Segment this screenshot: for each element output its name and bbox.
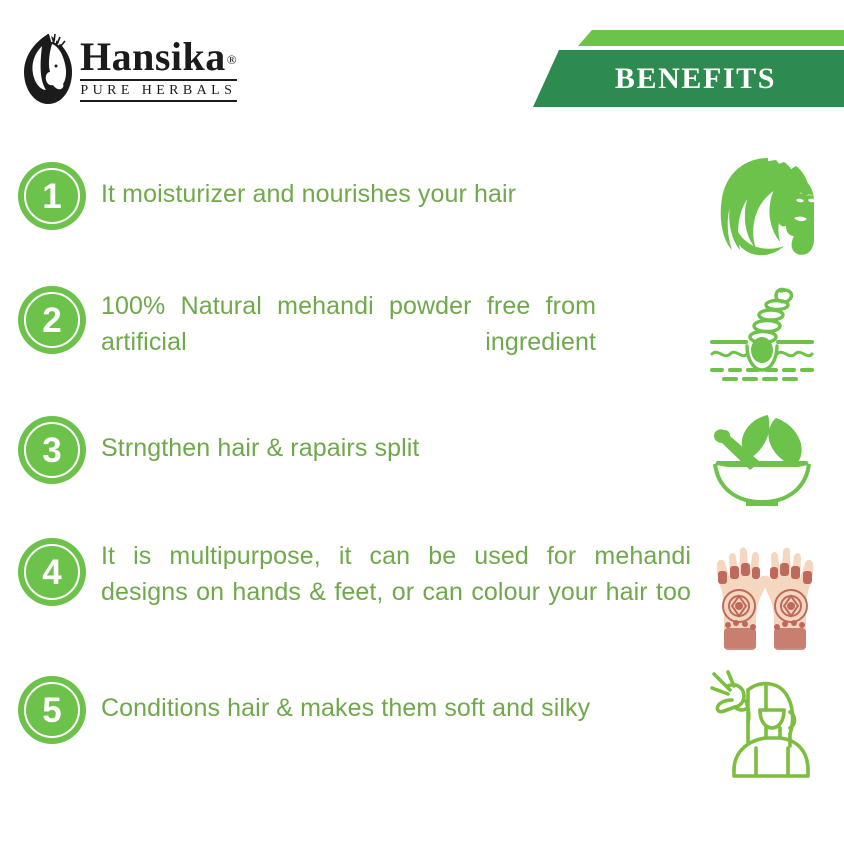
benefit-number-1: 1 [42,179,61,214]
benefit-text-2: 100% Natural mehandi powder free from ar… [101,286,606,396]
benefit-number-3: 3 [42,433,61,468]
benefits-banner: BENEFITS [533,50,844,107]
benefit-number-badge-2: 2 [18,286,86,354]
hair-follicle-root-icon [706,286,818,382]
benefit-text-3: Strngthen hair & rapairs split [101,416,581,466]
logo-divider-bottom [80,100,237,102]
henna-mehandi-hands-icon [702,532,828,658]
benefit-number-badge-5: 5 [18,676,86,744]
logo-tagline: PURE HERBALS [80,82,237,100]
woman-long-hair-icon [710,150,820,260]
benefit-text-1: It moisturizer and nourishes your hair [101,162,621,212]
woman-combing-hair-icon [704,666,824,780]
mortar-pestle-leaves-icon [702,412,822,506]
banner-title-text: BENEFITS [601,62,776,96]
logo-name-text: Hansika [80,34,226,79]
benefit-number-badge-1: 1 [18,162,86,230]
benefit-number-badge-3: 3 [18,416,86,484]
page-header: Hansika® PURE HERBALS BENEFITS [0,0,844,130]
benefit-text-4: It is multipurpose, it can be used for m… [101,538,701,646]
banner-accent-stripe [578,30,844,46]
benefit-number-5: 5 [42,693,61,728]
logo-divider-top [80,79,237,81]
logo-wordmark: Hansika® [80,37,237,78]
benefit-text-5: Conditions hair & makes them soft and si… [101,676,691,726]
benefit-number-2: 2 [42,303,61,338]
leaf-woman-profile-logo-icon [22,32,74,106]
benefit-number-badge-4: 4 [18,538,86,606]
brand-logo: Hansika® PURE HERBALS [22,32,237,106]
benefit-number-4: 4 [42,555,61,590]
registered-trademark-icon: ® [227,52,237,67]
